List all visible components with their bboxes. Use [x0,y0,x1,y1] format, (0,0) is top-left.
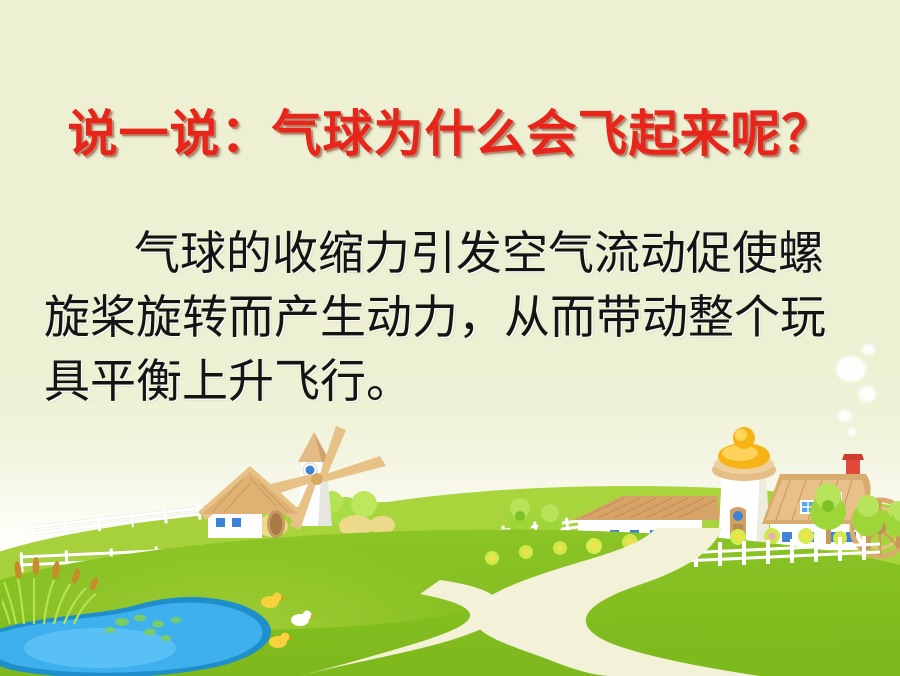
house-window-2 [232,518,241,527]
path-shape [474,528,760,676]
cattail-heads [13,557,99,592]
tower-window [733,511,743,521]
duck-yellow-2 [269,633,294,649]
smoke-puff-4 [848,428,857,436]
reeds-cattails [2,556,112,626]
page-title: 说一说：气球为什么会飞起来呢？ [0,104,900,164]
duck-yellow-1 [261,593,286,609]
ducks-group [256,590,346,660]
house-window-1 [216,518,225,527]
slide-canvas: 说一说：气球为什么会飞起来呢？ 气球的收缩力引发空气流动促使螺旋桨旋转而产生动力… [0,0,900,676]
duck-white [291,611,316,627]
body-paragraph: 气球的收缩力引发空气流动促使螺旋桨旋转而产生动力，从而带动整个玩具平衡上升飞行。 [44,222,864,414]
windmill-window [306,466,315,475]
